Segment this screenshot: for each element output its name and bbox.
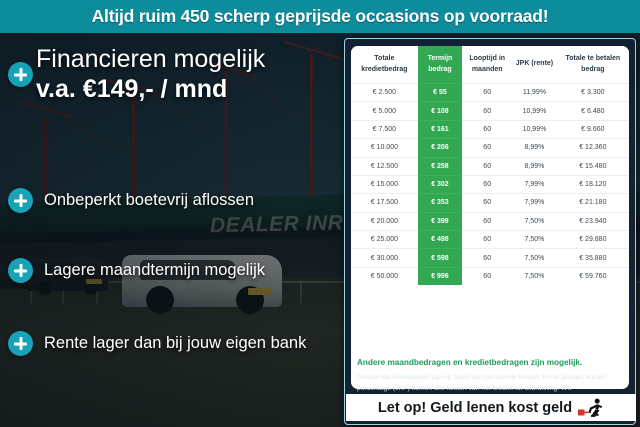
table-cell: 7,50% <box>512 231 556 249</box>
rate-table-card: Totale kredietbedrag Termijn bedrag Loop… <box>351 46 629 389</box>
table-cell: 60 <box>462 267 512 285</box>
table-cell: € 161 <box>418 120 462 138</box>
table-cell: 60 <box>462 139 512 157</box>
plus-icon <box>8 258 33 283</box>
col-header-totale-te-betalen: Totale te betalen bedrag <box>557 46 629 84</box>
table-row: € 12.500€ 258608,99%€ 15.480 <box>351 157 629 175</box>
table-cell: € 9.660 <box>557 120 629 138</box>
table-cell: € 59.760 <box>557 267 629 285</box>
table-cell: 60 <box>462 102 512 120</box>
left-content: Financieren mogelijk v.a. €149,- / mnd O… <box>0 33 350 427</box>
bullet-label-1: Onbeperkt boetevrij aflossen <box>44 191 254 210</box>
table-cell: 10,99% <box>512 102 556 120</box>
col-header-looptijd: Looptijd in maanden <box>462 46 512 84</box>
table-cell: € 12.500 <box>351 157 418 175</box>
rate-table-header-row: Totale kredietbedrag Termijn bedrag Loop… <box>351 46 629 84</box>
promo-banner: Altijd ruim 450 scherp geprijsde occasio… <box>0 0 640 427</box>
credit-warning-strip: Let op! Geld lenen kost geld <box>346 394 636 421</box>
table-row: € 25.000€ 498607,50%€ 29.880 <box>351 231 629 249</box>
plus-icon <box>8 188 33 213</box>
table-row: € 15.000€ 302607,99%€ 18.120 <box>351 175 629 193</box>
bullet-label-2: Lagere maandtermijn mogelijk <box>44 261 265 280</box>
table-cell: € 15.000 <box>351 175 418 193</box>
table-cell: € 20.000 <box>351 212 418 230</box>
table-cell: € 206 <box>418 139 462 157</box>
table-cell: € 6.480 <box>557 102 629 120</box>
table-cell: € 353 <box>418 194 462 212</box>
rate-table-body: € 2.500€ 556011,99%€ 3.300€ 5.000€ 10860… <box>351 84 629 286</box>
table-cell: € 17.500 <box>351 194 418 212</box>
credit-warning-text: Let op! Geld lenen kost geld <box>378 400 572 416</box>
table-cell: 60 <box>462 231 512 249</box>
table-row: € 7.500€ 1616010,99%€ 9.660 <box>351 120 629 138</box>
table-cell: 60 <box>462 157 512 175</box>
table-cell: € 258 <box>418 157 462 175</box>
table-cell: € 12.360 <box>557 139 629 157</box>
table-row: € 20.000€ 399607,50%€ 23.940 <box>351 212 629 230</box>
bullet-item-rente-lager: Rente lager dan bij jouw eigen bank <box>8 331 348 356</box>
table-cell: € 15.480 <box>557 157 629 175</box>
table-cell: € 7.500 <box>351 120 418 138</box>
table-row: € 50.000€ 996607,50%€ 59.760 <box>351 267 629 285</box>
table-cell: € 23.940 <box>557 212 629 230</box>
table-cell: 10,99% <box>512 120 556 138</box>
table-cell: 60 <box>462 120 512 138</box>
table-cell: € 399 <box>418 212 462 230</box>
table-cell: € 10.000 <box>351 139 418 157</box>
top-banner-bar: Altijd ruim 450 scherp geprijsde occasio… <box>0 0 640 33</box>
table-cell: € 2.500 <box>351 84 418 102</box>
table-cell: € 996 <box>418 267 462 285</box>
table-cell: 60 <box>462 249 512 267</box>
table-cell: € 55 <box>418 84 462 102</box>
table-cell: 7,99% <box>512 194 556 212</box>
table-cell: € 5.000 <box>351 102 418 120</box>
table-cell: 8,99% <box>512 139 556 157</box>
afm-running-man-icon <box>578 398 604 418</box>
table-cell: € 598 <box>418 249 462 267</box>
table-cell: € 108 <box>418 102 462 120</box>
table-cell: 60 <box>462 175 512 193</box>
table-cell: € 35.880 <box>557 249 629 267</box>
table-cell: 7,50% <box>512 212 556 230</box>
table-cell: 60 <box>462 84 512 102</box>
table-cell: 7,99% <box>512 175 556 193</box>
table-cell: € 29.880 <box>557 231 629 249</box>
col-header-jpk: JPK (rente) <box>512 46 556 84</box>
table-row: € 2.500€ 556011,99%€ 3.300 <box>351 84 629 102</box>
table-cell: € 50.000 <box>351 267 418 285</box>
table-cell: € 30.000 <box>351 249 418 267</box>
bullet-item-lagere-maandtermijn: Lagere maandtermijn mogelijk <box>8 258 348 283</box>
bullet-item-0 <box>8 62 348 87</box>
top-banner-text: Altijd ruim 450 scherp geprijsde occasio… <box>92 6 549 27</box>
table-row: € 30.000€ 598607,50%€ 35.880 <box>351 249 629 267</box>
table-cell: € 21.180 <box>557 194 629 212</box>
table-cell: 7,50% <box>512 267 556 285</box>
table-cell: € 3.300 <box>557 84 629 102</box>
disclaimer-title: Andere maandbedragen en kredietbedragen … <box>357 357 625 368</box>
table-cell: 60 <box>462 212 512 230</box>
rate-table: Totale kredietbedrag Termijn bedrag Loop… <box>351 46 629 285</box>
table-cell: 8,99% <box>512 157 556 175</box>
table-cell: 7,50% <box>512 249 556 267</box>
table-cell: 60 <box>462 194 512 212</box>
table-row: € 10.000€ 206608,99%€ 12.360 <box>351 139 629 157</box>
col-header-totale-kredietbedrag: Totale kredietbedrag <box>351 46 418 84</box>
table-cell: 11,99% <box>512 84 556 102</box>
col-header-termijn-bedrag: Termijn bedrag <box>418 46 462 84</box>
rate-table-head: Totale kredietbedrag Termijn bedrag Loop… <box>351 46 629 84</box>
rate-panel: Totale kredietbedrag Termijn bedrag Loop… <box>344 38 636 425</box>
bullet-label-3: Rente lager dan bij jouw eigen bank <box>44 334 306 353</box>
table-cell: € 18.120 <box>557 175 629 193</box>
plus-icon <box>8 331 33 356</box>
table-row: € 17.500€ 353607,99%€ 21.180 <box>351 194 629 212</box>
bullet-item-onbeperkt-aflossen: Onbeperkt boetevrij aflossen <box>8 188 348 213</box>
table-cell: € 25.000 <box>351 231 418 249</box>
table-cell: € 498 <box>418 231 462 249</box>
table-row: € 5.000€ 1086010,99%€ 6.480 <box>351 102 629 120</box>
table-cell: € 302 <box>418 175 462 193</box>
plus-icon <box>8 62 33 87</box>
